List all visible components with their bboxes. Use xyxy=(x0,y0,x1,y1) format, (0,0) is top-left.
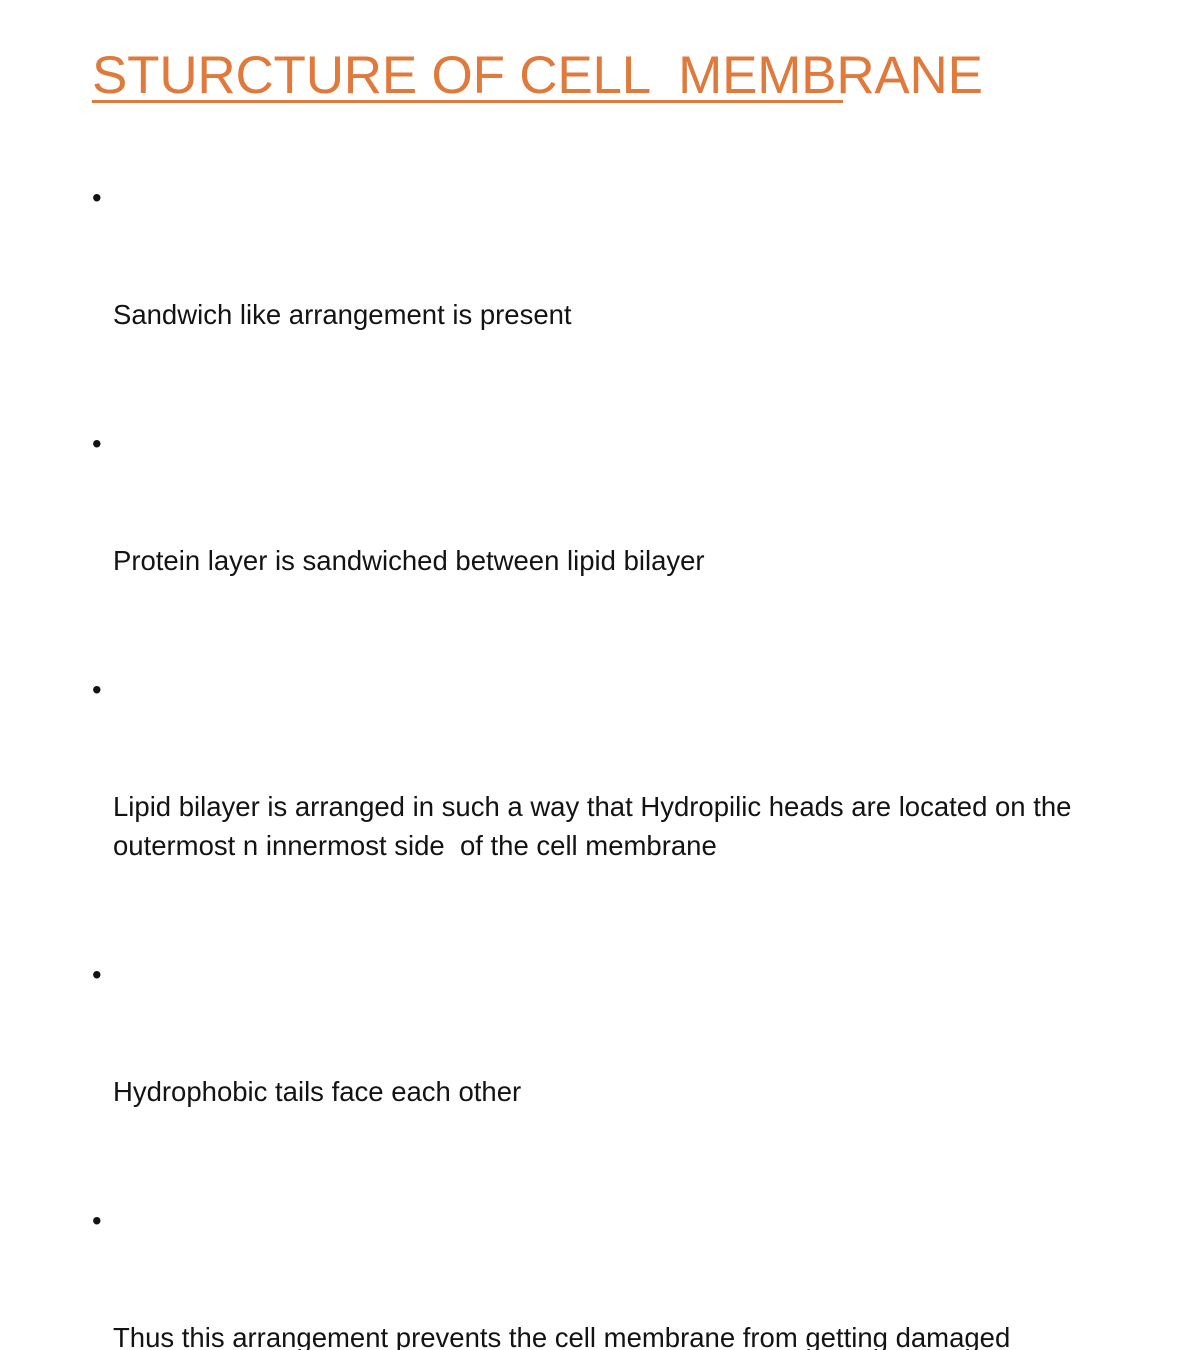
bullet-point-icon: • xyxy=(92,424,102,463)
list-item: • Protein layer is sandwiched between li… xyxy=(92,424,1092,658)
list-item-text: Sandwich like arrangement is present xyxy=(113,295,1092,334)
list-item-text: Thus this arrangement prevents the cell … xyxy=(113,1318,1092,1350)
list-item-text: Lipid bilayer is arranged in such a way … xyxy=(113,787,1092,865)
presentation-slide: STURCTURE OF CELL MEMBRANE • Sandwich li… xyxy=(0,0,1200,675)
bullet-list: • Sandwich like arrangement is present •… xyxy=(92,178,1092,1350)
bullet-point-icon: • xyxy=(92,955,102,994)
page-title: STURCTURE OF CELL MEMBRANE xyxy=(92,48,983,104)
list-item: • Hydrophobic tails face each other xyxy=(92,955,1092,1189)
title-underline-rule xyxy=(92,100,843,103)
list-item: • Lipid bilayer is arranged in such a wa… xyxy=(92,670,1092,943)
list-item: • Sandwich like arrangement is present xyxy=(92,178,1092,412)
bullet-point-icon: • xyxy=(92,1201,102,1240)
list-item-text: Hydrophobic tails face each other xyxy=(113,1072,1092,1111)
list-item: • Thus this arrangement prevents the cel… xyxy=(92,1201,1092,1350)
bullet-point-icon: • xyxy=(92,178,102,217)
list-item-text: Protein layer is sandwiched between lipi… xyxy=(113,541,1092,580)
bullet-point-icon: • xyxy=(92,670,102,709)
